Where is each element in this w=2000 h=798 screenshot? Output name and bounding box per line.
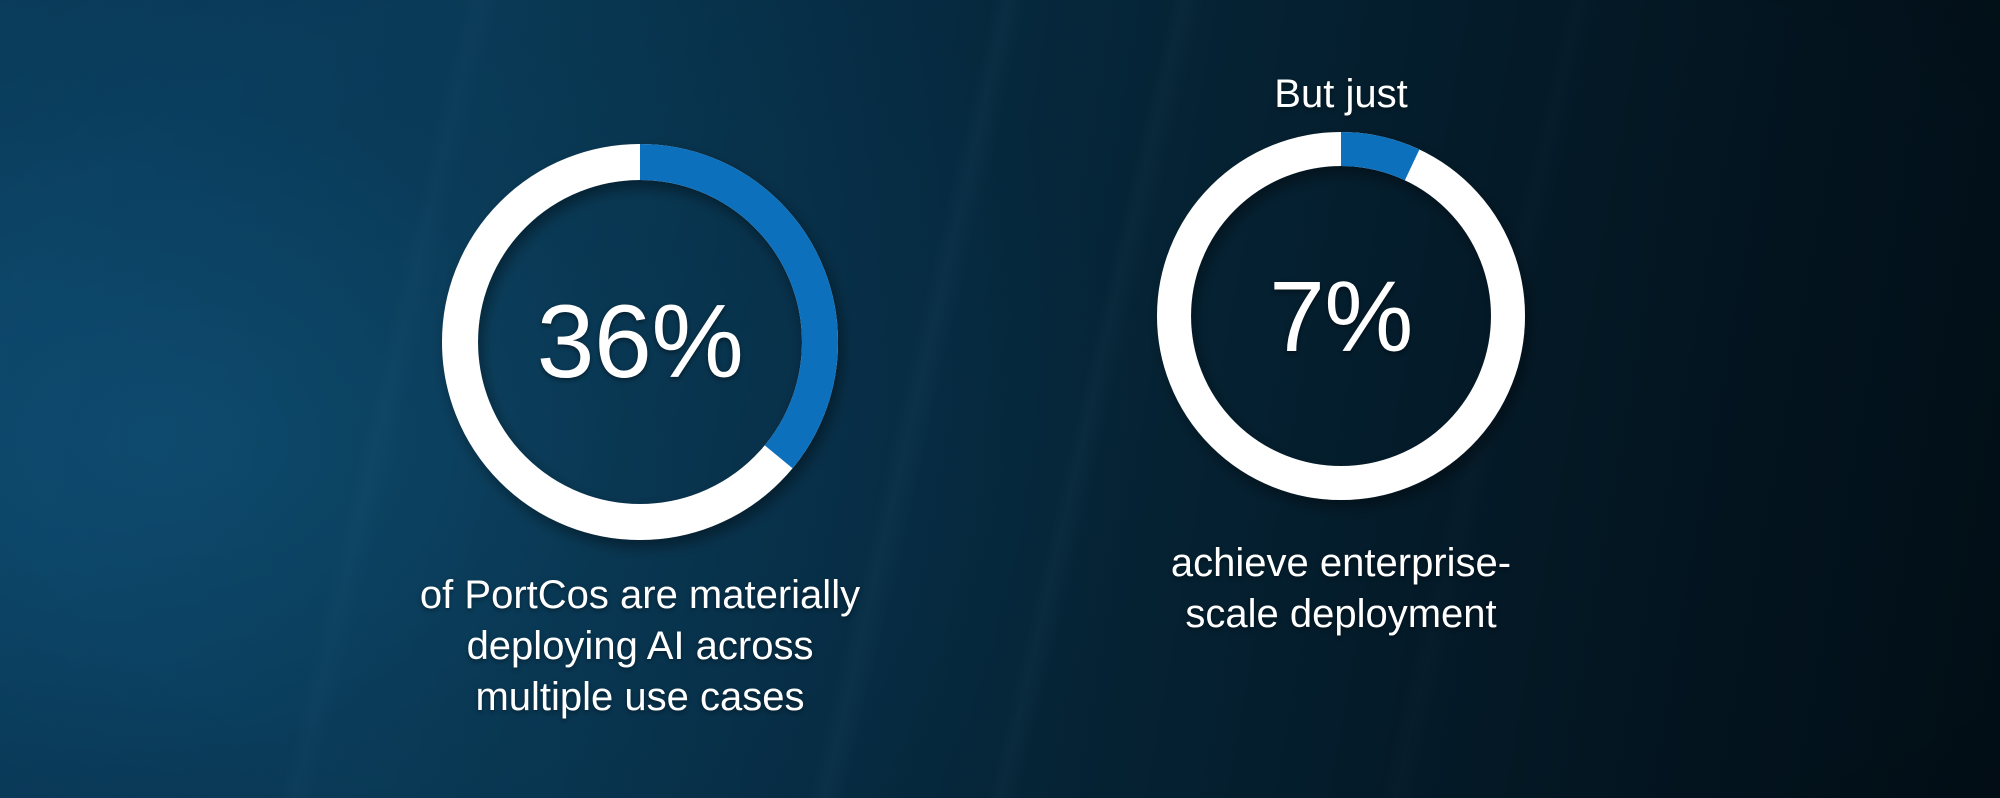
stat-preamble: But just	[1041, 70, 1641, 118]
background-vignette	[0, 0, 2000, 798]
donut-value-label: 36%	[335, 290, 945, 394]
stat-block-enterprise-scale-deployment: But just 7% achieve enterprise- scale de…	[1041, 70, 1641, 640]
donut-value-label: 7%	[1041, 267, 1641, 367]
infographic-canvas: 36% of PortCos are materially deploying …	[0, 0, 2000, 798]
donut-chart-36: 36%	[335, 142, 945, 542]
donut-chart-7: 7%	[1041, 129, 1641, 504]
stat-caption: achieve enterprise- scale deployment	[1041, 538, 1641, 640]
stat-block-portcos-deploying-ai: 36% of PortCos are materially deploying …	[335, 142, 945, 724]
stat-caption: of PortCos are materially deploying AI a…	[335, 570, 945, 724]
